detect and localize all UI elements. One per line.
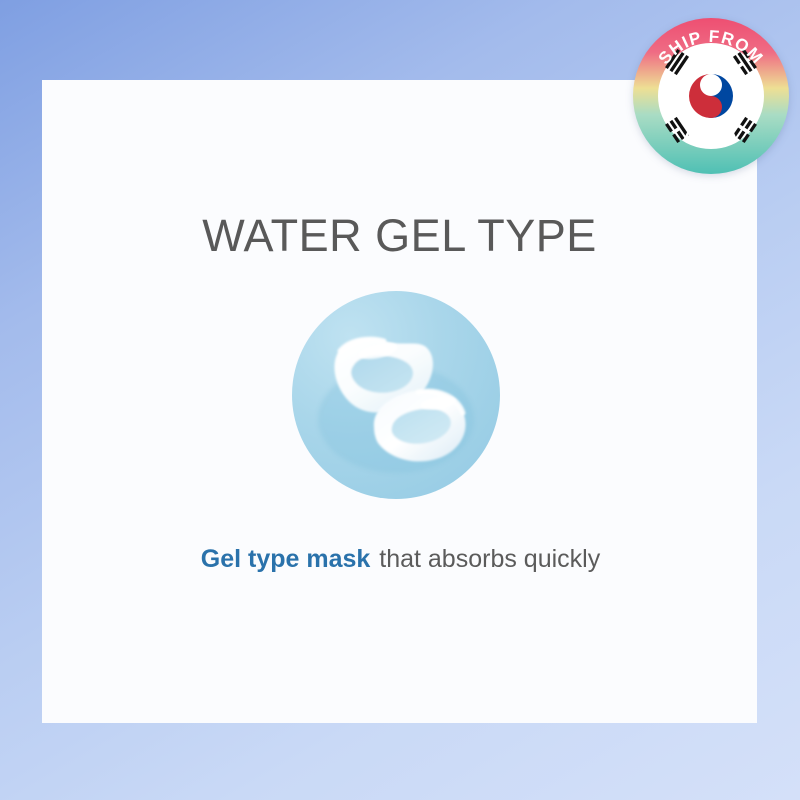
page-title: WATER GEL TYPE	[42, 210, 757, 262]
gel-texture-image	[292, 291, 500, 499]
caption-highlight: Gel type mask	[199, 545, 373, 573]
promo-image-canvas: WATER GEL TYPE	[0, 0, 800, 800]
caption-rest: that absorbs quickly	[372, 545, 600, 573]
ship-from-badge: SHIP FROM PRISM	[631, 16, 791, 176]
product-card: WATER GEL TYPE	[42, 80, 757, 723]
caption: Gel type mask that absorbs quickly	[42, 545, 757, 574]
